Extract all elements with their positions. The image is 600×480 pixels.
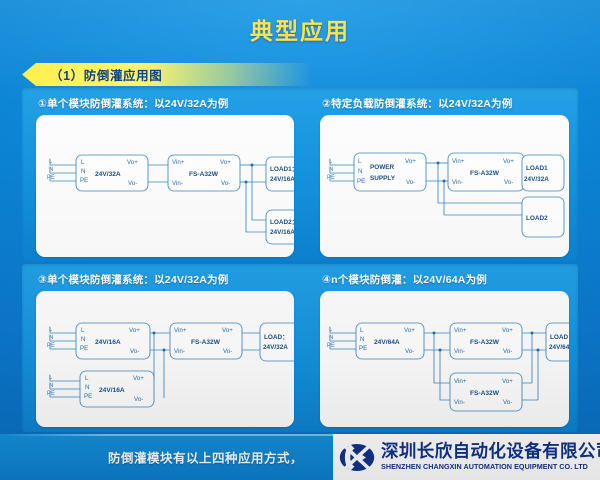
- junction-dot-1: [251, 164, 254, 167]
- load1-box: [266, 157, 294, 191]
- company-name-en: SHENZHEN CHANGXIN AUTOMATION EQUIPMENT C…: [381, 463, 600, 470]
- psu-a-label: 24V/16A: [95, 339, 121, 346]
- load-box: [546, 323, 569, 361]
- load2-label-line2: 24V/16A: [270, 229, 294, 236]
- module-port-vin-plus: Vin+: [172, 159, 185, 166]
- psu-port-L: L: [360, 327, 364, 334]
- input-label-N: N: [329, 167, 333, 173]
- slide-footer: 防倒灌模块有以上四种应用方式， 深圳长欣自动化设备有限公司 SHENZHEN C…: [0, 434, 600, 480]
- module-a-port-vin-minus: Vin-: [454, 348, 465, 355]
- junction-dot-3: [531, 332, 534, 335]
- diagram-4-canvas: L N PE L N PE 24V/64A Vo+ Vo-: [320, 291, 569, 427]
- section-label: （1）防倒灌应用图: [50, 63, 162, 86]
- load-label-line2: 24V/64A: [549, 344, 569, 351]
- module-to-load-wires: [242, 333, 260, 350]
- load1-box: [522, 155, 564, 191]
- junction-dot-2: [245, 181, 248, 184]
- changxin-logo-icon: [339, 441, 375, 474]
- input-label-N: N: [49, 167, 53, 173]
- diagram-4-title: ④n个模块防倒灌：以24V/64A为例: [320, 272, 580, 287]
- psu-port-PE: PE: [80, 177, 88, 184]
- module-to-load-wires: [240, 165, 266, 232]
- module-a-port-vin-plus: Vin+: [454, 327, 467, 334]
- junction-dot-1: [433, 332, 436, 335]
- psu-label: 24V/64A: [374, 339, 400, 346]
- psu-port-L: L: [81, 159, 85, 166]
- diagram-1: ①单个模块防倒灌系统：以24V/32A为例 L N PE L N PE 24V/…: [36, 96, 296, 257]
- output-combine-bus: [522, 333, 546, 400]
- input-b-label-N: N: [49, 383, 53, 389]
- module-port-vin-plus: Vin+: [452, 158, 465, 165]
- module-port-vo-plus: Vo+: [503, 158, 514, 165]
- psu-label: 24V/32A: [95, 171, 121, 178]
- module-b-port-vin-plus: Vin+: [454, 378, 467, 385]
- module-port-vin-minus: Vin-: [452, 179, 463, 186]
- input-label-L: L: [49, 159, 53, 165]
- input-label-PE: PE: [327, 343, 335, 349]
- input-a-label-N: N: [49, 335, 53, 341]
- load-label-line2: 24V/32A: [263, 344, 288, 351]
- load1-label-line1: LOAD1：: [270, 166, 294, 173]
- psu-port-PE: PE: [359, 345, 367, 352]
- psu-b-port-vo-minus: Vo-: [134, 396, 143, 403]
- psu-label-line1: POWER: [370, 164, 395, 171]
- company-logo-plate: 深圳长欣自动化设备有限公司 SHENZHEN CHANGXIN AUTOMATI…: [333, 434, 600, 480]
- load1-label-line2: 24V/32A: [524, 176, 549, 183]
- psu-port-vo-plus: Vo+: [404, 327, 415, 334]
- input-label-N: N: [329, 335, 333, 341]
- psu-a-port-N: N: [81, 336, 85, 343]
- input-label-L: L: [329, 159, 333, 165]
- load2-label-line1: LOAD2: [526, 215, 548, 222]
- module-port-vo-plus: Vo+: [220, 159, 231, 166]
- diagram-2-title: ②特定负载防倒灌系统：以24V/32A为例: [320, 96, 580, 111]
- psu-b-label: 24V/16A: [99, 387, 125, 394]
- psu-a-port-PE: PE: [80, 345, 88, 352]
- junction-dot-2: [443, 180, 446, 183]
- module-port-vin-plus: Vin+: [174, 327, 187, 334]
- load-label-line1: LOAD：: [264, 334, 289, 341]
- psu-a-port-vo-minus: Vo-: [130, 348, 139, 355]
- psu-port-N: N: [360, 336, 364, 343]
- module-label: FS-A32W: [191, 339, 221, 346]
- module-label: FS-A32W: [470, 170, 500, 177]
- input-a-label-L: L: [49, 327, 53, 333]
- diagram-2: ②特定负载防倒灌系统：以24V/32A为例 L N PE L N PE POWE…: [320, 96, 580, 257]
- psu-b-port-vo-plus: Vo+: [133, 375, 144, 382]
- psu-port-PE: PE: [357, 178, 365, 185]
- company-name-cn: 深圳长欣自动化设备有限公司: [381, 443, 600, 461]
- module-b-port-vin-minus: Vin-: [454, 399, 465, 406]
- module-b-label: FS-A32W: [470, 390, 500, 397]
- module-a-label: FS-A32W: [470, 339, 500, 346]
- input-b-label-L: L: [49, 375, 53, 381]
- page-title: 典型应用: [250, 12, 350, 46]
- input-label-L: L: [329, 327, 333, 333]
- company-logo-text: 深圳长欣自动化设备有限公司 SHENZHEN CHANGXIN AUTOMATI…: [381, 443, 600, 470]
- load-box: [260, 323, 294, 361]
- module-port-vo-minus: Vo-: [223, 348, 232, 355]
- load2-box: [266, 210, 294, 244]
- psu-port-vo-plus: Vo+: [405, 158, 416, 165]
- load2-label-line1: LOAD2：: [270, 219, 294, 226]
- module-port-vin-minus: Vin-: [174, 348, 185, 355]
- junction-dot-1: [153, 332, 156, 335]
- load1-label-line1: LOAD1: [526, 165, 548, 172]
- module-a-port-vo-plus: Vo+: [502, 327, 513, 334]
- footer-slogan: 防倒灌模块有以上四种应用方式，: [108, 448, 303, 467]
- load1-label-line2: 24V/16A: [270, 176, 294, 183]
- psu-port-vo-minus: Vo-: [406, 179, 415, 186]
- diagram-2-canvas: L N PE L N PE POWER SUPPLY Vo+ Vo-: [320, 115, 569, 257]
- psu-port-N: N: [81, 168, 85, 175]
- module-port-vo-plus: Vo+: [222, 327, 233, 334]
- module-port-vo-minus: Vo-: [504, 179, 513, 186]
- module-a-port-vo-minus: Vo-: [503, 348, 512, 355]
- psu-to-module-wires: [148, 165, 168, 182]
- psu-port-vo-plus: Vo+: [127, 159, 138, 166]
- diagram-3-canvas: L N PE L N PE 24V/16A Vo+ Vo- L N PE: [36, 291, 294, 427]
- load-label-line1: LOAD: [550, 334, 568, 341]
- junction-dot-2: [439, 349, 442, 352]
- psu-label-line2: SUPPLY: [370, 175, 396, 182]
- module-b-port-vo-minus: Vo-: [503, 399, 512, 406]
- psu-port-vo-minus: Vo-: [128, 180, 137, 187]
- junction-dot-4: [537, 349, 540, 352]
- input-a-label-PE: PE: [47, 343, 55, 349]
- diagram-3-title: ③单个模块防倒灌系统：以24V/32A为例: [36, 272, 296, 287]
- psu-b-port-N: N: [85, 384, 89, 391]
- psu-b-port-L: L: [85, 375, 89, 382]
- psu-a-port-L: L: [81, 327, 85, 334]
- input-b-label-PE: PE: [47, 391, 55, 397]
- input-label-PE: PE: [327, 175, 335, 181]
- psu-a-port-vo-plus: Vo+: [129, 327, 140, 334]
- junction-dot-1: [437, 162, 440, 165]
- input-label-PE: PE: [47, 175, 55, 181]
- module-label: FS-A32W: [189, 171, 219, 178]
- diagram-1-title: ①单个模块防倒灌系统：以24V/32A为例: [36, 96, 296, 111]
- psu-port-vo-minus: Vo-: [405, 348, 414, 355]
- module-port-vo-minus: Vo-: [221, 180, 230, 187]
- psu-port-N: N: [358, 168, 362, 175]
- psu-b-port-PE: PE: [84, 393, 92, 400]
- psu-port-L: L: [358, 158, 362, 165]
- module-b-port-vo-plus: Vo+: [502, 378, 513, 385]
- slide-title-bar: 典型应用: [0, 0, 600, 58]
- module-port-vin-minus: Vin-: [172, 180, 183, 187]
- diagram-1-canvas: L N PE L N PE 24V/32A Vo+ Vo- Vin+: [36, 115, 294, 257]
- input-split-bus: [424, 333, 450, 400]
- diagram-3: ③单个模块防倒灌系统：以24V/32A为例 L N PE L N PE 24V/…: [36, 272, 296, 427]
- slide-background: 典型应用 （1）防倒灌应用图 ①单个模块防倒灌系统：以24V/32A为例 L N…: [0, 0, 600, 480]
- junction-dot-2: [163, 349, 166, 352]
- diagram-4: ④n个模块防倒灌：以24V/64A为例 L N PE L N PE 24V/64…: [320, 272, 580, 427]
- section-ribbon: （1）防倒灌应用图: [22, 63, 312, 86]
